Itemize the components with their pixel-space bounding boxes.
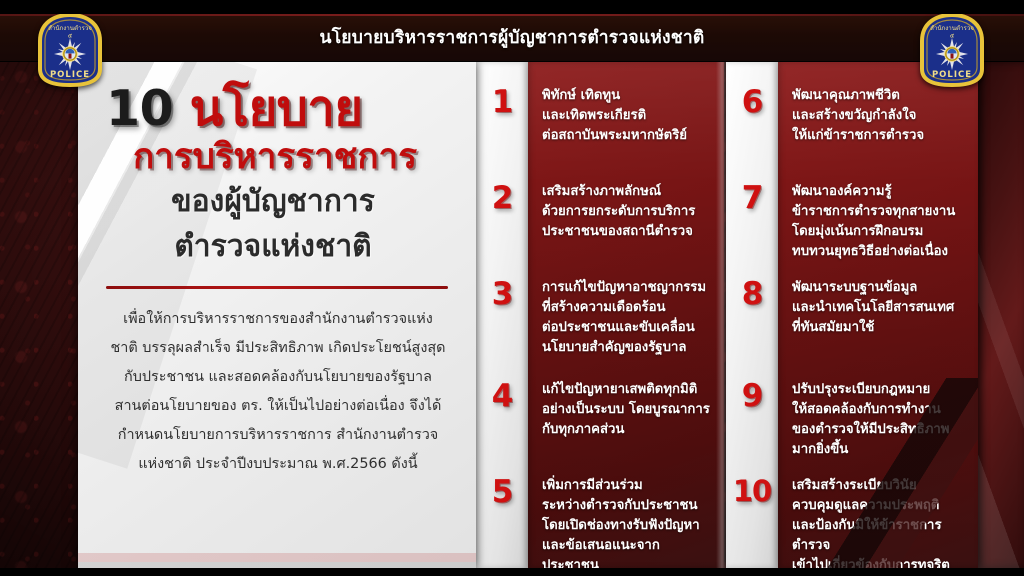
top-black-band [0, 0, 1024, 14]
policy-item-4: แก้ไขปัญหายาเสพติดทุกมิติอย่างเป็นระบบ โ… [528, 380, 724, 440]
infographic-stage: นโยบายบริหารราชการผู้บัญชาการตำรวจแห่งชา… [0, 0, 1024, 576]
policy-item-4-line-3: กับทุกภาคส่วน [542, 420, 714, 440]
heading-line-3a: ของผู้บัญชาการ [104, 184, 452, 221]
policy-number-6: 6 [726, 84, 778, 120]
intro-panel: 10 นโยบาย การบริหารราชการ ของผู้บัญชาการ… [78, 62, 476, 568]
policy-item-9-line-4: มากยิ่งขึ้น [792, 440, 968, 460]
policy-number-8: 8 [726, 276, 778, 312]
policy-item-7-line-3: โดยมุ่งเน้นการฝึกอบรม [792, 222, 968, 242]
svg-text:สำนักงานตำรวจ: สำนักงานตำรวจ [48, 25, 92, 32]
policy-item-6-line-1: พัฒนาคุณภาพชีวิต [792, 86, 968, 106]
policy-number-4: 4 [476, 378, 528, 414]
policy-item-5: เพิ่มการมีส่วนร่วมระหว่างตำรวจกับประชาชน… [528, 476, 724, 576]
heading-divider [106, 286, 448, 289]
policy-item-5-line-1: เพิ่มการมีส่วนร่วม [542, 476, 714, 496]
policy-number-2: 2 [476, 180, 528, 216]
policy-item-10: เสริมสร้างระเบียบวินัยควบคุมดูแลความประพ… [778, 476, 978, 576]
svg-text:POLICE: POLICE [932, 70, 972, 80]
heading-line-1: 10 นโยบาย [106, 84, 452, 134]
policy-number-7: 7 [726, 180, 778, 216]
policy-item-7-line-4: ทบทวนยุทธวิธีอย่างต่อเนื่อง [792, 242, 968, 262]
policy-item-2-line-1: เสริมสร้างภาพลักษณ์ [542, 182, 714, 202]
policy-column-right: 678910 พัฒนาคุณภาพชีวิตและสร้างขวัญกำลัง… [726, 62, 978, 568]
policy-item-9-line-1: ปรับปรุงระเบียบกฎหมาย [792, 380, 968, 400]
heading-line-2: การบริหารราชการ [104, 138, 452, 177]
policy-item-2: เสริมสร้างภาพลักษณ์ด้วยการยกระดับการบริก… [528, 182, 724, 242]
svg-text:๕: ๕ [68, 33, 73, 40]
policy-item-5-line-2: ระหว่างตำรวจกับประชาชน [542, 496, 714, 516]
policy-item-5-line-3: โดยเปิดช่องทางรับฟังปัญหา [542, 516, 714, 536]
svg-text:สำนักงานตำรวจ: สำนักงานตำรวจ [930, 25, 974, 32]
policy-item-1-line-2: และเทิดพระเกียรติ [542, 106, 714, 126]
policy-number-1: 1 [476, 84, 528, 120]
policy-item-3-line-3: ต่อประชาชนและขับเคลื่อน [542, 318, 714, 338]
policy-item-6-line-3: ให้แก่ข้าราชการตำรวจ [792, 126, 968, 146]
policy-item-9-line-2: ให้สอดคล้องกับการทำงาน [792, 400, 968, 420]
policy-number-10: 10 [726, 474, 778, 508]
policy-number-3: 3 [476, 276, 528, 312]
paper-bottom-shadow [78, 508, 476, 568]
heading-number: 10 [106, 80, 173, 137]
policy-item-9: ปรับปรุงระเบียบกฎหมายให้สอดคล้องกับการทำ… [778, 380, 978, 460]
policy-text-rail-right: พัฒนาคุณภาพชีวิตและสร้างขวัญกำลังใจให้แก… [778, 62, 978, 568]
policy-item-3: การแก้ไขปัญหาอาชญากรรมที่สร้างความเดือดร… [528, 278, 724, 358]
policy-number-rail-left: 12345 [476, 62, 528, 568]
policy-item-1-line-1: พิทักษ์ เทิดทูน [542, 86, 714, 106]
policy-item-2-line-3: ประชาชนของสถานีตำรวจ [542, 222, 714, 242]
policy-item-10-line-3: และป้องกันมิให้ข้าราชการตำรวจ [792, 516, 968, 556]
policy-item-10-line-1: เสริมสร้างระเบียบวินัย [792, 476, 968, 496]
policy-item-4-line-2: อย่างเป็นระบบ โดยบูรณาการ [542, 400, 714, 420]
policy-item-3-line-2: ที่สร้างความเดือดร้อน [542, 298, 714, 318]
svg-text:๕: ๕ [950, 33, 955, 40]
policy-item-8-line-1: พัฒนาระบบฐานข้อมูล [792, 278, 968, 298]
policy-item-9-line-3: ของตำรวจให้มีประสิทธิภาพ [792, 420, 968, 440]
policy-number-rail-right: 678910 [726, 62, 778, 568]
policy-number-9: 9 [726, 378, 778, 414]
policy-item-10-line-2: ควบคุมดูแลความประพฤติ [792, 496, 968, 516]
policy-item-3-line-4: นโยบายสำคัญของรัฐบาล [542, 338, 714, 358]
police-badge-right-icon: สำนักงานตำรวจ ๕ POLICE [916, 11, 988, 89]
header-title: นโยบายบริหารราชการผู้บัญชาการตำรวจแห่งชา… [0, 14, 1024, 62]
policy-item-1: พิทักษ์ เทิดทูนและเทิดพระเกียรติต่อสถาบั… [528, 86, 724, 146]
policy-item-7-line-2: ข้าราชการตำรวจทุกสายงาน [792, 202, 968, 222]
policy-item-7: พัฒนาองค์ความรู้ข้าราชการตำรวจทุกสายงานโ… [778, 182, 978, 262]
svg-text:POLICE: POLICE [50, 70, 90, 80]
policy-number-5: 5 [476, 474, 528, 510]
policy-item-1-line-3: ต่อสถาบันพระมหากษัตริย์ [542, 126, 714, 146]
policy-item-2-line-2: ด้วยการยกระดับการบริการ [542, 202, 714, 222]
policy-item-8-line-3: ที่ทันสมัยมาใช้ [792, 318, 968, 338]
policy-item-8-line-2: และนำเทคโนโลยีสารสนเทศ [792, 298, 968, 318]
intro-paragraph: เพื่อให้การบริหารราชการของสำนักงานตำรวจแ… [110, 305, 446, 480]
policy-item-7-line-1: พัฒนาองค์ความรู้ [792, 182, 968, 202]
heading-line-3b: ตำรวจแห่งชาติ [104, 229, 452, 266]
policy-item-6-line-2: และสร้างขวัญกำลังใจ [792, 106, 968, 126]
policy-item-6: พัฒนาคุณภาพชีวิตและสร้างขวัญกำลังใจให้แก… [778, 86, 978, 146]
policy-column-left: 12345 พิทักษ์ เทิดทูนและเทิดพระเกียรติต่… [476, 62, 724, 568]
policy-item-8: พัฒนาระบบฐานข้อมูลและนำเทคโนโลยีสารสนเทศ… [778, 278, 978, 338]
right-edge-wedge-decoration [978, 62, 1024, 568]
policy-item-3-line-1: การแก้ไขปัญหาอาชญากรรม [542, 278, 714, 298]
policy-item-4-line-1: แก้ไขปัญหายาเสพติดทุกมิติ [542, 380, 714, 400]
police-badge-left-icon: สำนักงานตำรวจ ๕ POLICE [34, 11, 106, 89]
policy-text-rail-left: พิทักษ์ เทิดทูนและเทิดพระเกียรติต่อสถาบั… [528, 62, 724, 568]
intro-paragraph-wrapper: เพื่อให้การบริหารราชการของสำนักงานตำรวจแ… [104, 305, 452, 480]
heading-line-1-rest: นโยบาย [190, 80, 363, 137]
bottom-black-band [0, 568, 1024, 576]
